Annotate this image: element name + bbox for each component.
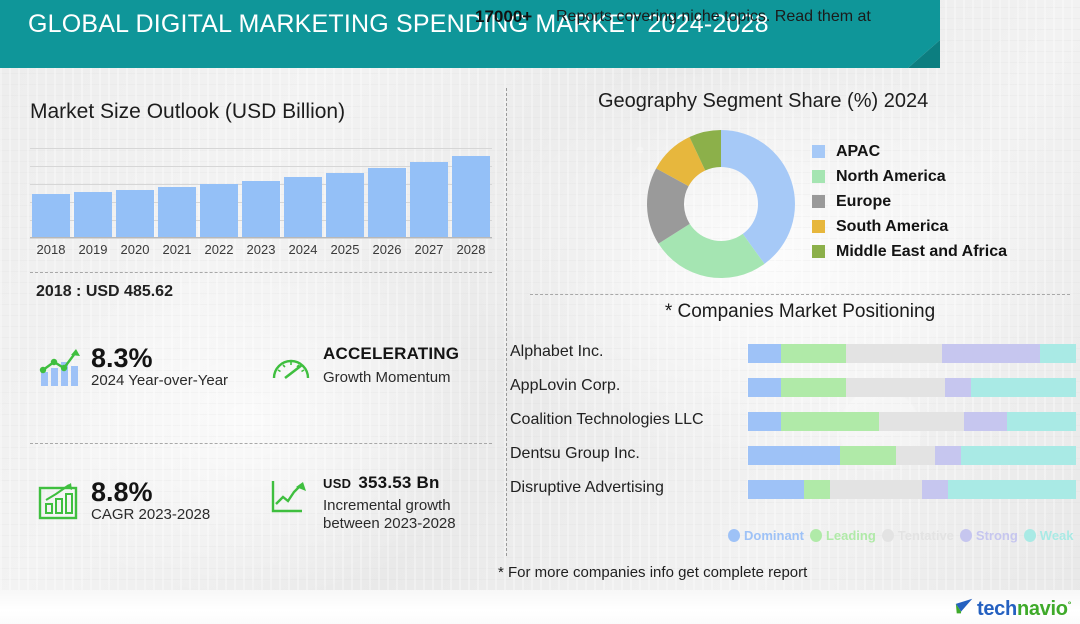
company-positioning-bar	[748, 412, 1076, 431]
bar-2024	[284, 177, 322, 238]
legend-item-apac: APAC	[812, 139, 1007, 164]
legend-label: APAC	[836, 143, 880, 161]
market-size-section-title: Market Size Outlook (USD Billion)	[30, 100, 345, 124]
kpi-incremental-label-line2: between 2023-2028	[323, 515, 456, 533]
legend-swatch-icon	[812, 170, 825, 183]
header-banner: GLOBAL DIGITAL MARKETING SPENDING MARKET…	[0, 0, 1080, 68]
positioning-legend-label: Dominant	[744, 528, 804, 543]
segment-strong	[935, 446, 961, 465]
x-label-2019: 2019	[71, 242, 115, 257]
segment-weak	[948, 480, 1076, 499]
x-label-2022: 2022	[197, 242, 241, 257]
x-label-2021: 2021	[155, 242, 199, 257]
company-row: Alphabet Inc.	[510, 340, 1075, 374]
x-label-2027: 2027	[407, 242, 451, 257]
divider-above-cagr	[30, 443, 492, 444]
segment-dominant	[748, 446, 840, 465]
geography-legend: APACNorth AmericaEuropeSouth AmericaMidd…	[812, 139, 1007, 264]
bar-2018	[32, 194, 70, 238]
kpi-yoy-value: 8.3%	[91, 344, 228, 372]
company-row: AppLovin Corp.	[510, 374, 1075, 408]
positioning-legend-dot-icon	[728, 529, 740, 542]
infographic-page: GLOBAL DIGITAL MARKETING SPENDING MARKET…	[0, 0, 1080, 624]
vertical-divider	[506, 88, 507, 556]
positioning-legend-dot-icon	[810, 529, 822, 542]
x-label-2024: 2024	[281, 242, 325, 257]
positioning-legend-item-tentative: Tentative	[882, 528, 954, 543]
positioning-legend-label: Leading	[826, 528, 876, 543]
grid-line	[30, 148, 492, 149]
segment-leading	[781, 412, 879, 431]
kpi-yoy-label: 2024 Year-over-Year	[91, 372, 228, 390]
bar-2019	[74, 192, 112, 238]
company-name: Coalition Technologies LLC	[510, 411, 704, 429]
kpi-cagr: 8.8% CAGR 2023-2028	[36, 478, 210, 525]
segment-weak	[1040, 344, 1076, 363]
x-label-2026: 2026	[365, 242, 409, 257]
brand-trademark: °	[1068, 599, 1071, 609]
x-label-2020: 2020	[113, 242, 157, 257]
x-label-2023: 2023	[239, 242, 283, 257]
technavio-logo[interactable]: technavio°	[955, 597, 1071, 621]
segment-tentative	[846, 344, 941, 363]
segment-dominant	[748, 412, 781, 431]
legend-swatch-icon	[812, 245, 825, 258]
bar-chart-axis	[30, 237, 492, 238]
positioning-legend-label: Tentative	[898, 528, 954, 543]
footer-bar	[0, 590, 1080, 624]
companies-positioning-list: Alphabet Inc.AppLovin Corp.Coalition Tec…	[510, 340, 1075, 510]
legend-label: Europe	[836, 193, 891, 211]
x-label-2028: 2028	[449, 242, 493, 257]
positioning-legend-label: Strong	[976, 528, 1018, 543]
companies-section-title: * Companies Market Positioning	[530, 301, 1070, 323]
segment-leading	[781, 344, 847, 363]
positioning-legend-dot-icon	[960, 529, 972, 542]
company-positioning-bar	[748, 378, 1076, 397]
legend-label: South America	[836, 218, 948, 236]
positioning-legend-item-dominant: Dominant	[728, 528, 804, 543]
companies-footnote: * For more companies info get complete r…	[498, 564, 807, 581]
company-row: Disruptive Advertising	[510, 476, 1075, 510]
segment-weak	[971, 378, 1076, 397]
x-label-2025: 2025	[323, 242, 367, 257]
bar-line-growth-icon	[36, 344, 82, 390]
bar-2028	[452, 156, 490, 238]
segment-tentative	[879, 412, 964, 431]
positioning-legend-dot-icon	[882, 529, 894, 542]
bar-2020	[116, 190, 154, 238]
segment-leading	[804, 480, 830, 499]
segment-leading	[840, 446, 896, 465]
segment-tentative	[846, 378, 944, 397]
segment-dominant	[748, 378, 781, 397]
bar-2026	[368, 168, 406, 238]
bar-2027	[410, 162, 448, 238]
positioning-legend-label: Weak	[1040, 528, 1074, 543]
positioning-legend-item-strong: Strong	[960, 528, 1018, 543]
legend-item-middle-east-and-africa: Middle East and Africa	[812, 239, 1007, 264]
company-name: Dentsu Group Inc.	[510, 445, 640, 463]
footer-tagline: Reports covering niche topics. Read them…	[556, 8, 871, 26]
market-size-bar-chart	[30, 148, 492, 238]
speedometer-icon	[268, 344, 314, 390]
legend-item-europe: Europe	[812, 189, 1007, 214]
segment-leading	[781, 378, 847, 397]
kpi-incremental-value: 353.53 Bn	[358, 473, 439, 493]
kpi-year-over-year: 8.3% 2024 Year-over-Year	[36, 344, 228, 391]
company-name: Disruptive Advertising	[510, 479, 664, 497]
kpi-incremental-growth: USD 353.53 Bn Incremental growth between…	[268, 473, 456, 534]
segment-strong	[964, 412, 1007, 431]
company-positioning-bar	[748, 446, 1076, 465]
base-year-value: 2018 : USD 485.62	[36, 283, 173, 301]
legend-swatch-icon	[812, 220, 825, 233]
segment-weak	[1007, 412, 1076, 431]
kpi-incremental-unit: USD	[323, 476, 351, 491]
footer-report-count: 17000+	[475, 7, 532, 27]
positioning-legend: DominantLeadingTentativeStrongWeak	[728, 528, 1074, 543]
segment-strong	[922, 480, 948, 499]
legend-label: Middle East and Africa	[836, 243, 1007, 261]
segment-tentative	[896, 446, 935, 465]
company-row: Coalition Technologies LLC	[510, 408, 1075, 442]
brand-tech-text: tech	[977, 598, 1017, 620]
positioning-legend-item-weak: Weak	[1024, 528, 1074, 543]
bar-2021	[158, 187, 196, 238]
bar-chart-x-labels: 2018201920202021202220232024202520262027…	[30, 242, 492, 260]
geography-section-title: Geography Segment Share (%) 2024	[598, 90, 928, 113]
trend-arrow-icon	[268, 473, 314, 519]
segment-dominant	[748, 344, 781, 363]
kpi-momentum-value: ACCELERATING	[323, 344, 459, 364]
company-row: Dentsu Group Inc.	[510, 442, 1075, 476]
segment-dominant	[748, 480, 804, 499]
segment-strong	[945, 378, 971, 397]
kpi-cagr-label: CAGR 2023-2028	[91, 506, 210, 524]
technavio-mark-icon	[955, 597, 974, 621]
kpi-incremental-label-line1: Incremental growth	[323, 497, 456, 515]
divider-above-companies	[530, 294, 1070, 295]
bar-2022	[200, 184, 238, 238]
legend-item-north-america: North America	[812, 164, 1007, 189]
legend-swatch-icon	[812, 195, 825, 208]
company-name: AppLovin Corp.	[510, 377, 620, 395]
legend-swatch-icon	[812, 145, 825, 158]
legend-item-south-america: South America	[812, 214, 1007, 239]
company-name: Alphabet Inc.	[510, 343, 603, 361]
bar-2023	[242, 181, 280, 238]
company-positioning-bar	[748, 344, 1076, 363]
legend-label: North America	[836, 168, 946, 186]
bar-2025	[326, 173, 364, 238]
segment-tentative	[830, 480, 922, 499]
divider-above-base-value	[30, 272, 492, 273]
positioning-legend-item-leading: Leading	[810, 528, 876, 543]
brand-navio-text: navio	[1017, 598, 1068, 620]
geography-donut-chart	[645, 128, 797, 280]
bar-chart-arrow-icon	[36, 478, 82, 524]
grid-line	[30, 238, 492, 239]
positioning-legend-dot-icon	[1024, 529, 1036, 542]
kpi-momentum-label: Growth Momentum	[323, 369, 459, 387]
segment-strong	[942, 344, 1040, 363]
kpi-growth-momentum: ACCELERATING Growth Momentum	[268, 344, 459, 390]
technavio-wordmark: technavio°	[977, 598, 1071, 621]
x-label-2018: 2018	[29, 242, 73, 257]
kpi-cagr-value: 8.8%	[91, 478, 210, 506]
company-positioning-bar	[748, 480, 1076, 499]
segment-weak	[961, 446, 1076, 465]
